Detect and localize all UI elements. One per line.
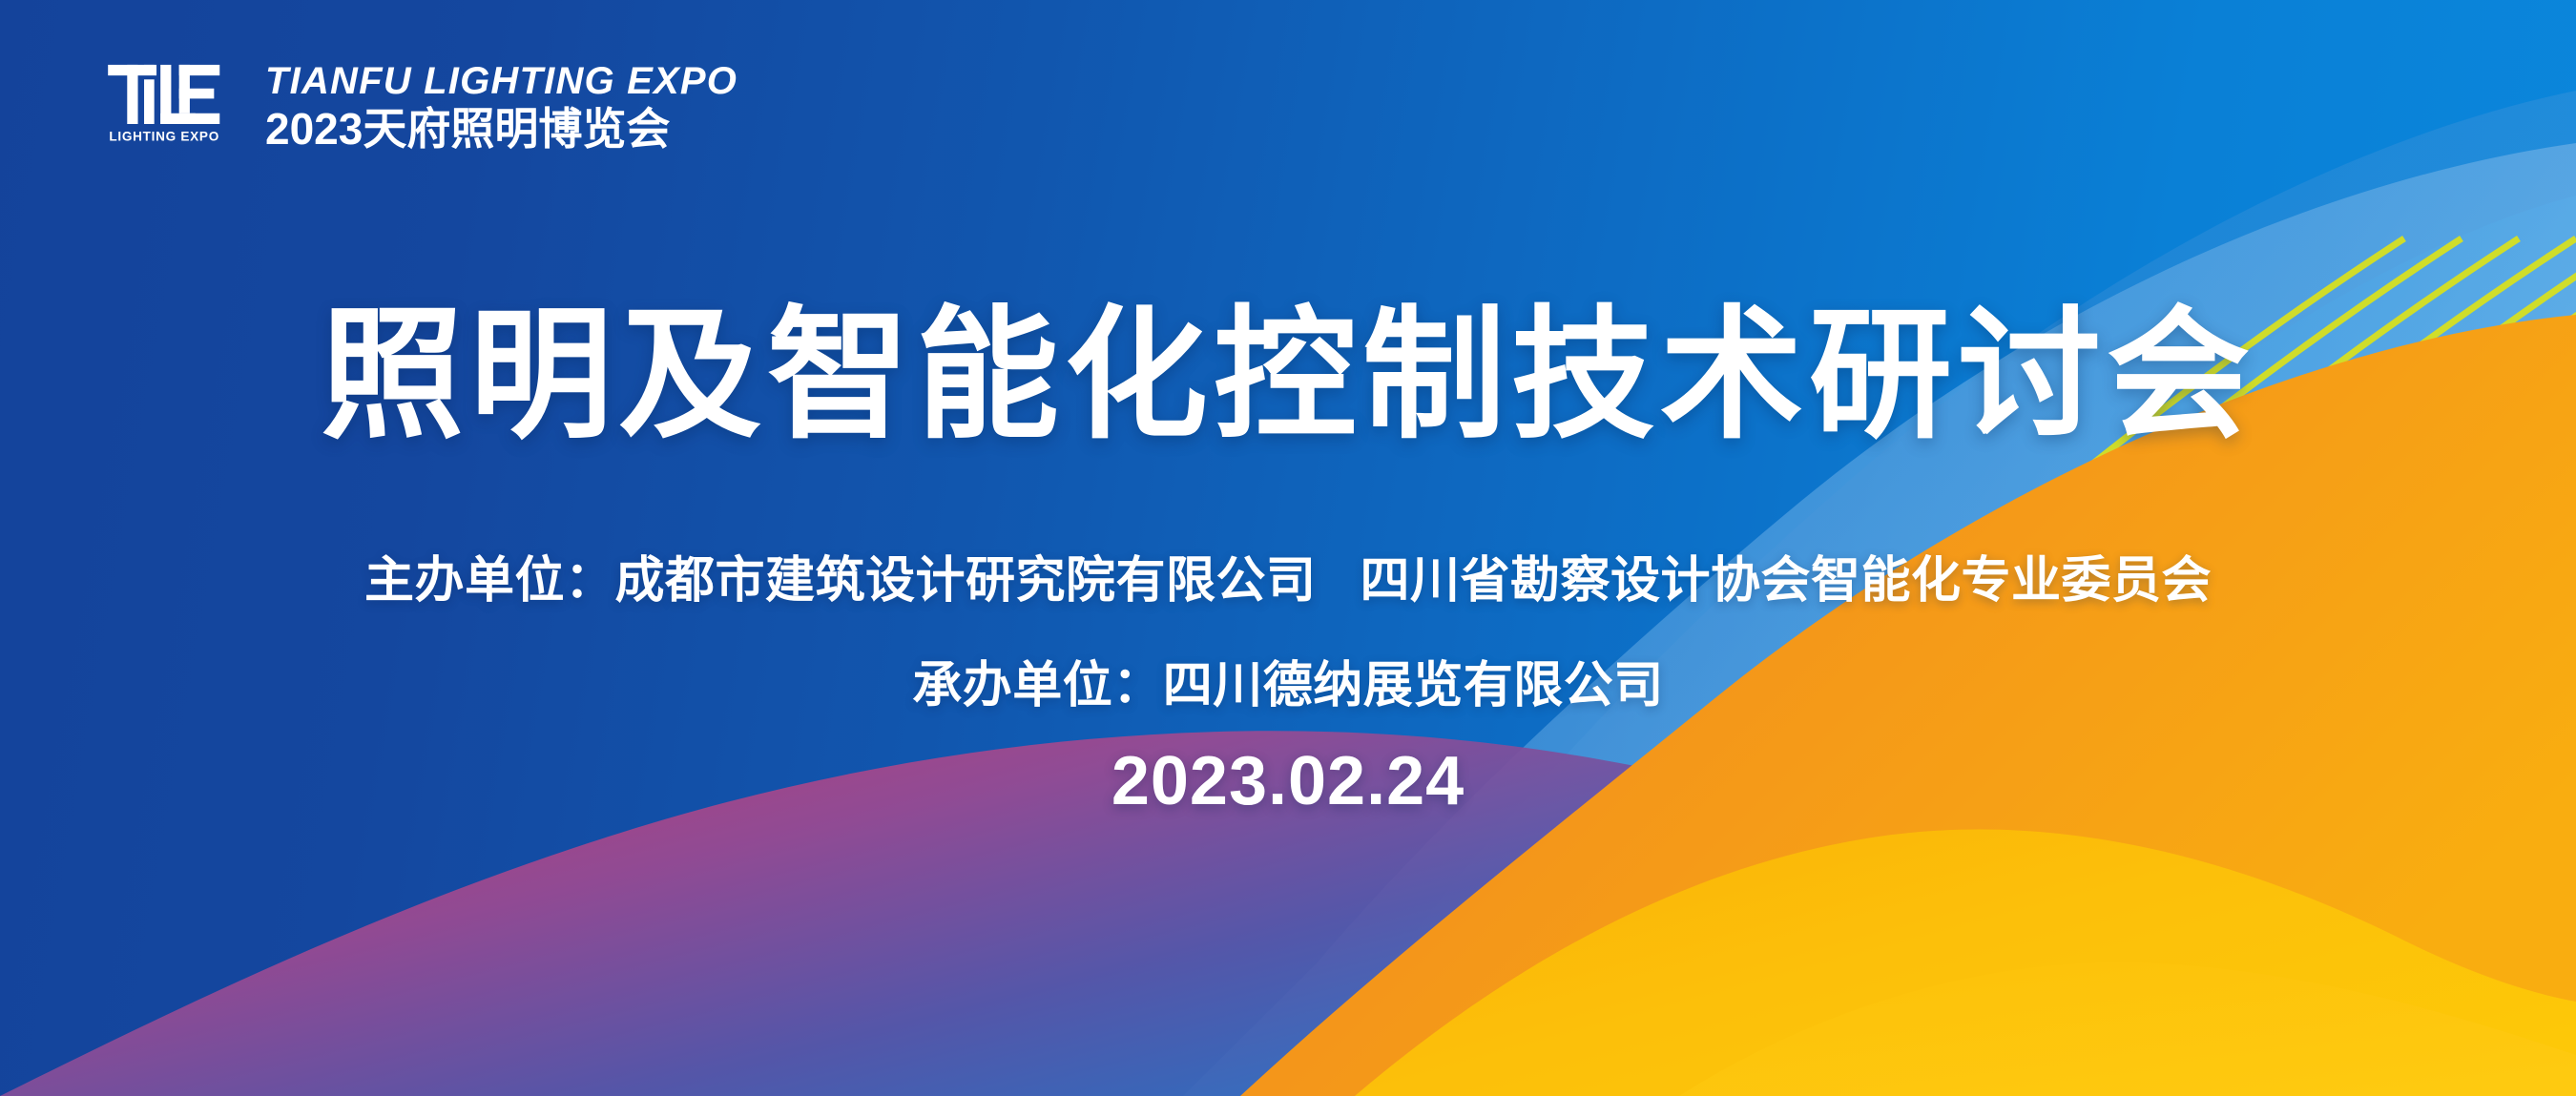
tile-logo-subtitle-text: LIGHTING EXPO bbox=[109, 130, 219, 144]
host-organizer-secondary: 四川省勘察设计协会智能化专业委员会 bbox=[1361, 553, 2212, 609]
organizer-line-primary: 主办单位：成都市建筑设计研究院有限公司四川省勘察设计协会智能化专业委员会 bbox=[0, 540, 2576, 611]
tile-logo-icon: LIGHTING EXPO bbox=[107, 59, 237, 144]
expo-name-english: TIANFU LIGHTING EXPO bbox=[265, 61, 737, 101]
banner-content: LIGHTING EXPO TIANFU LIGHTING EXPO 2023天… bbox=[0, 0, 2576, 1096]
expo-name-chinese: 2023天府照明博览会 bbox=[265, 105, 737, 155]
coorganizer-line: 承办单位：四川德纳展览有限公司 bbox=[0, 645, 2576, 716]
event-banner: LIGHTING EXPO TIANFU LIGHTING EXPO 2023天… bbox=[0, 0, 2576, 1096]
event-date: 2023.02.24 bbox=[0, 742, 2576, 820]
expo-logo-lockup: LIGHTING EXPO TIANFU LIGHTING EXPO 2023天… bbox=[107, 59, 737, 155]
page-title: 照明及智能化控制技术研讨会 bbox=[0, 303, 2576, 446]
host-organizer: 主办单位：成都市建筑设计研究院有限公司 bbox=[364, 553, 1317, 609]
expo-wordmark: TIANFU LIGHTING EXPO 2023天府照明博览会 bbox=[265, 59, 737, 155]
